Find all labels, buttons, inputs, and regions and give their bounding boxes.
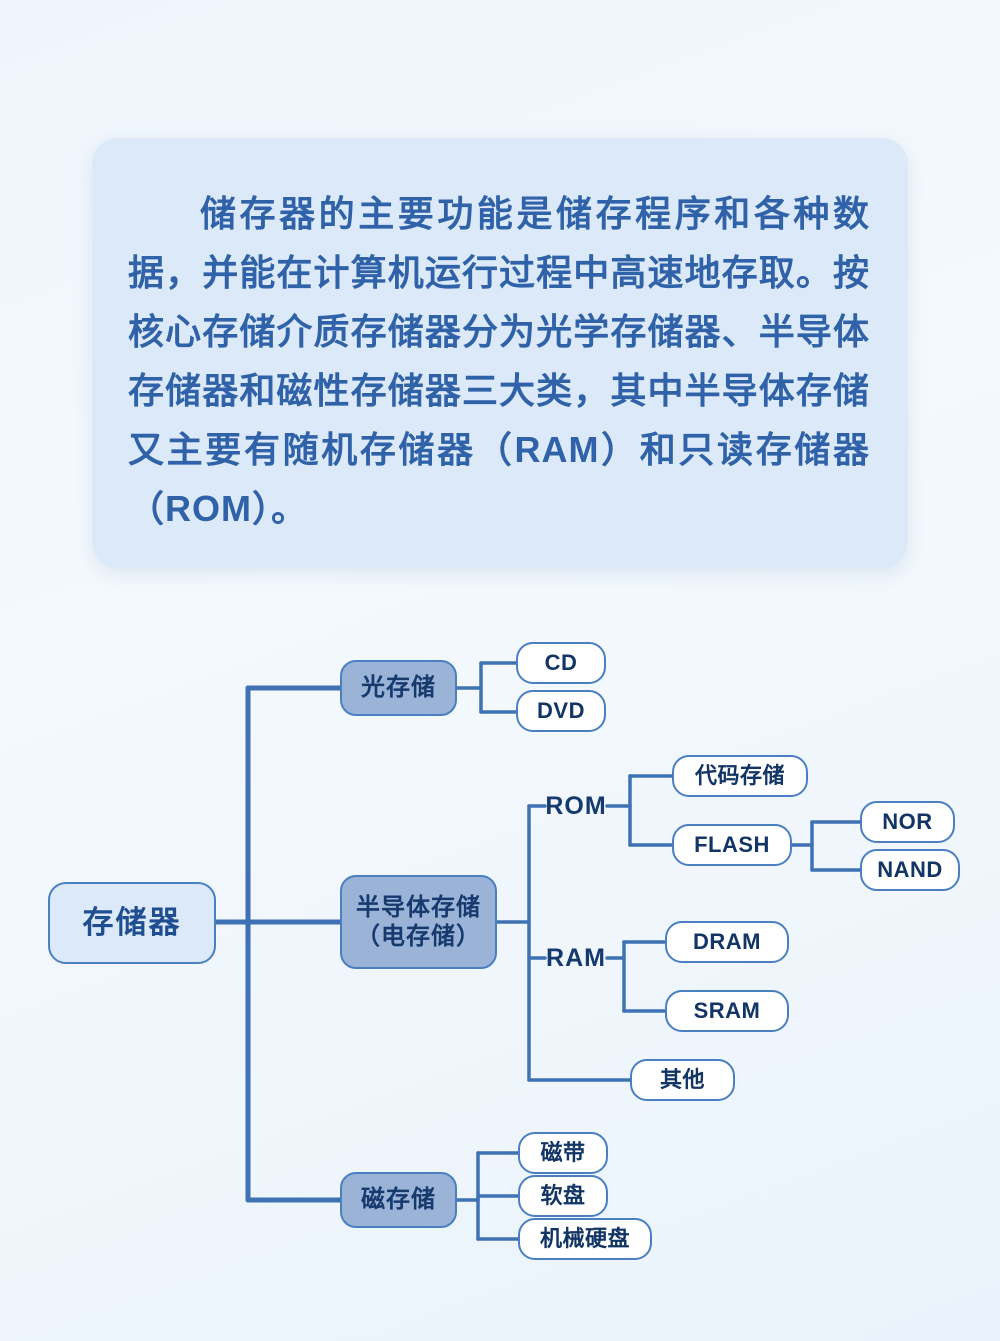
node-nor[interactable]: NOR (860, 801, 955, 843)
node-floppy[interactable]: 软盘 (518, 1175, 608, 1217)
node-ram[interactable]: RAM (540, 938, 612, 978)
node-sram[interactable]: SRAM (665, 990, 789, 1032)
node-optical-storage[interactable]: 光存储 (340, 660, 457, 716)
node-sram-label: SRAM (694, 998, 761, 1025)
node-hdd[interactable]: 机械硬盘 (518, 1218, 652, 1260)
node-other[interactable]: 其他 (630, 1059, 735, 1101)
node-nor-label: NOR (882, 809, 932, 836)
node-rom-label: ROM (545, 791, 606, 822)
node-magnetic-storage[interactable]: 磁存储 (340, 1172, 457, 1228)
intro-paragraph: 储存器的主要功能是储存程序和各种数据，并能在计算机运行过程中高速地存取。按核心存… (128, 184, 870, 538)
node-flash[interactable]: FLASH (672, 824, 792, 866)
node-root-label: 存储器 (83, 904, 182, 942)
node-cd-label: CD (545, 650, 578, 677)
node-code-storage-label: 代码存储 (695, 763, 785, 790)
node-dvd[interactable]: DVD (516, 690, 606, 732)
node-tape[interactable]: 磁带 (518, 1132, 608, 1174)
node-other-label: 其他 (660, 1067, 705, 1094)
node-semiconductor-storage-label: 半导体存储 （电存储） (356, 893, 481, 952)
node-code-storage[interactable]: 代码存储 (672, 755, 808, 797)
node-cd[interactable]: CD (516, 642, 606, 684)
node-nand[interactable]: NAND (860, 849, 960, 891)
node-semiconductor-storage[interactable]: 半导体存储 （电存储） (340, 875, 497, 969)
node-rom[interactable]: ROM (540, 786, 612, 826)
node-root[interactable]: 存储器 (48, 882, 216, 964)
node-tape-label: 磁带 (540, 1140, 585, 1167)
node-dram[interactable]: DRAM (665, 921, 789, 963)
node-nand-label: NAND (877, 857, 943, 884)
node-ram-label: RAM (546, 943, 606, 974)
node-hdd-label: 机械硬盘 (540, 1226, 630, 1253)
node-dvd-label: DVD (537, 698, 585, 725)
storage-mindmap: 存储器 光存储 CD DVD 半导体存储 （电存储） ROM 代码存储 FLAS… (0, 600, 1000, 1300)
node-dram-label: DRAM (693, 929, 761, 956)
node-flash-label: FLASH (694, 832, 770, 859)
node-floppy-label: 软盘 (540, 1183, 585, 1210)
node-magnetic-storage-label: 磁存储 (361, 1185, 436, 1214)
intro-card: 储存器的主要功能是储存程序和各种数据，并能在计算机运行过程中高速地存取。按核心存… (92, 138, 908, 568)
node-optical-storage-label: 光存储 (361, 673, 436, 702)
